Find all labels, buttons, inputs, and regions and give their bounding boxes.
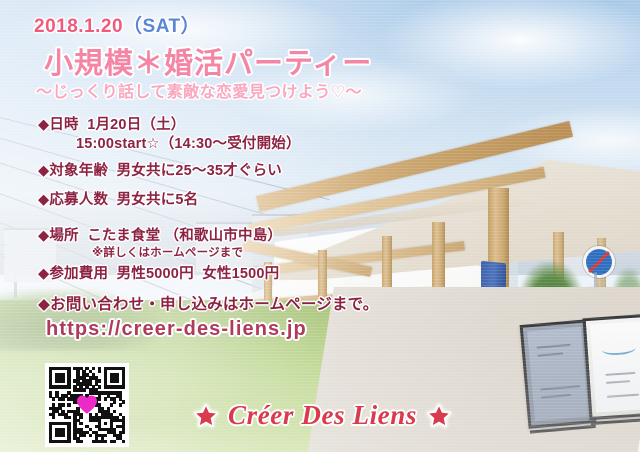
qr-code[interactable] xyxy=(45,363,129,447)
qr-module xyxy=(67,440,70,443)
brand-logo: Créer Des Liens xyxy=(193,400,452,431)
star-icon xyxy=(193,403,219,429)
qr-module xyxy=(104,434,107,437)
detail-venuenote: ※詳しくはホームページまで xyxy=(92,247,243,260)
qr-module xyxy=(82,388,85,391)
detail-agerange: ◆対象年齢 男女共に25～35才ぐらい xyxy=(38,163,282,179)
qr-module xyxy=(61,403,64,406)
qr-module xyxy=(104,397,107,400)
qr-module xyxy=(110,403,113,406)
detail-datetime: ◆日時 1月20日（土） xyxy=(38,117,186,133)
website-url[interactable]: https://creer-des-liens.jp xyxy=(46,318,307,340)
text-content-layer: 2018.1.20（SAT） 小規模＊婚活パーティー ～じっくり話して素敵な恋愛… xyxy=(0,0,640,452)
qr-module xyxy=(122,431,125,434)
qr-module xyxy=(92,367,95,370)
event-date-value: 2018.1.20 xyxy=(34,16,123,37)
qr-module xyxy=(79,416,82,419)
qr-module xyxy=(61,379,64,382)
detail-venue: ◆場所 こたま食堂 （和歌山市中島） xyxy=(38,228,282,244)
qr-module xyxy=(116,379,119,382)
qr-module xyxy=(119,403,122,406)
page-subtitle: ～じっくり話して素敵な恋愛見つけよう♡～ xyxy=(36,84,362,102)
qr-module xyxy=(98,379,101,382)
qr-module xyxy=(61,434,64,437)
flyer-canvas: 2018.1.20（SAT） 小規模＊婚活パーティー ～じっくり話して素敵な恋愛… xyxy=(0,0,640,452)
qr-module xyxy=(122,440,125,443)
brand-logo-text: Créer Des Liens xyxy=(228,400,417,431)
qr-module xyxy=(98,385,101,388)
qr-module xyxy=(52,416,55,419)
qr-module xyxy=(98,397,101,400)
page-title: 小規模＊婚活パーティー xyxy=(44,48,372,80)
event-date: 2018.1.20（SAT） xyxy=(34,16,200,37)
detail-fee: ◆参加費用 男性5000円 女性1500円 xyxy=(38,266,279,282)
qr-module xyxy=(61,397,64,400)
detail-capacity: ◆応募人数 男女共に5名 xyxy=(38,192,198,208)
qr-module xyxy=(89,434,92,437)
qr-module xyxy=(98,370,101,373)
qr-module xyxy=(122,385,125,388)
qr-module xyxy=(113,410,116,413)
qr-module xyxy=(104,422,107,425)
qr-module xyxy=(79,422,82,425)
qr-module xyxy=(67,416,70,419)
qr-module xyxy=(52,397,55,400)
qr-module xyxy=(113,400,116,403)
star-icon xyxy=(426,403,452,429)
event-day-of-week: （SAT） xyxy=(123,16,200,37)
detail-starttime: 15:00start☆（14:30～受付開始） xyxy=(76,136,301,152)
qr-module xyxy=(113,440,116,443)
qr-module xyxy=(122,400,125,403)
qr-module xyxy=(67,403,70,406)
qr-module xyxy=(79,440,82,443)
detail-contact: ◆お問い合わせ・申し込みはホームページまで。 xyxy=(38,296,378,313)
heart-icon xyxy=(76,395,98,415)
qr-module xyxy=(104,440,107,443)
qr-module xyxy=(82,434,85,437)
qr-module xyxy=(67,385,70,388)
